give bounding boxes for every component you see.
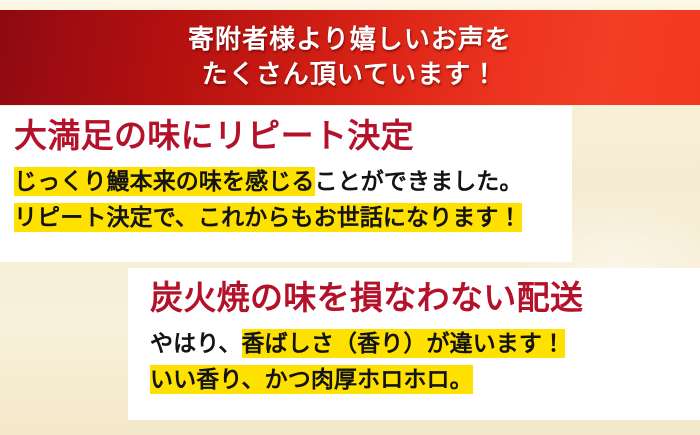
header-banner: 寄附者様より嬉しいお声を たくさん頂いています！ <box>0 10 700 105</box>
testimonial-card-2-line-1: やはり、香ばしさ（香り）が違います！ <box>150 327 700 360</box>
highlighted-text: リピート決定で、これからもお世話になります！ <box>14 203 522 232</box>
testimonial-card-1-heading: 大満足の味にリピート決定 <box>14 118 572 157</box>
testimonial-card-1-body: じっくり鰻本来の味を感じることができました。 リピート決定で、これからもお世話に… <box>14 165 572 233</box>
highlighted-text: じっくり鰻本来の味を感じる <box>14 167 315 196</box>
banner-headline-line-2: たくさん頂いています！ <box>202 58 499 93</box>
testimonial-card-2-line-2: いい香り、かつ肉厚ホロホロ。 <box>150 363 700 396</box>
plain-text: ことができました。 <box>315 168 523 194</box>
leading-text: やはり、 <box>150 330 242 356</box>
top-cream-strip <box>0 0 700 10</box>
testimonial-card-1-line-1: じっくり鰻本来の味を感じることができました。 <box>14 165 572 198</box>
testimonial-card-2-body: やはり、香ばしさ（香り）が違います！ いい香り、かつ肉厚ホロホロ。 <box>150 327 700 395</box>
testimonial-card-2: 炭火焼の味を損なわない配送 やはり、香ばしさ（香り）が違います！ いい香り、かつ… <box>128 268 700 420</box>
testimonial-card-2-heading: 炭火焼の味を損なわない配送 <box>150 280 700 319</box>
highlighted-text: いい香り、かつ肉厚ホロホロ。 <box>150 365 473 394</box>
promo-banner-stage: 寄附者様より嬉しいお声を たくさん頂いています！ 大満足の味にリピート決定 じっ… <box>0 0 700 435</box>
banner-headline-line-1: 寄附者様より嬉しいお声を <box>188 23 512 58</box>
highlighted-text: 香ばしさ（香り）が違います！ <box>242 329 566 358</box>
testimonial-card-1-line-2: リピート決定で、これからもお世話になります！ <box>14 201 572 234</box>
testimonial-card-1: 大満足の味にリピート決定 じっくり鰻本来の味を感じることができました。 リピート… <box>0 106 572 262</box>
